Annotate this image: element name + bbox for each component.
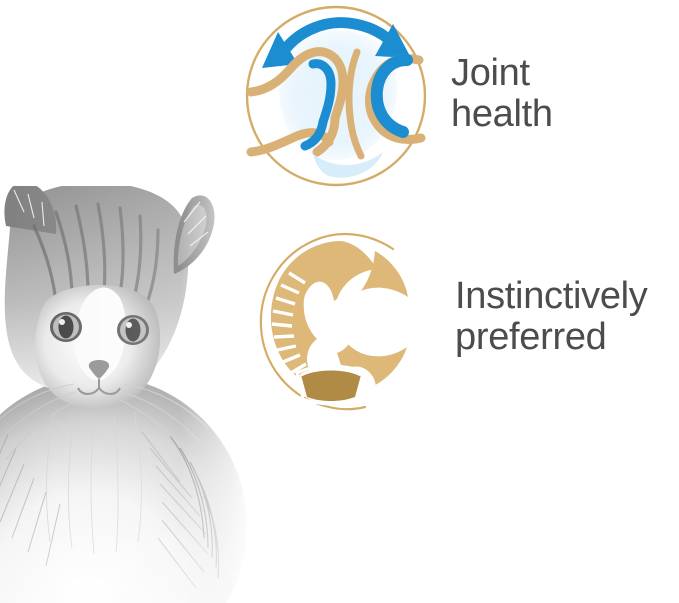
joint-health-icon [243,2,429,190]
food-bowl-icon [301,369,361,401]
benefit-item-instinctively-preferred: Instinctively preferred [243,224,679,414]
product-feature-panel: Joint health [0,0,679,603]
instinctively-preferred-icon [243,225,429,413]
benefit-label-instinctively-preferred: Instinctively preferred [429,276,679,362]
brand-bar [0,507,679,603]
benefit-item-joint-health: Joint health [243,2,679,190]
benefit-label-joint-health: Joint health [429,53,679,139]
